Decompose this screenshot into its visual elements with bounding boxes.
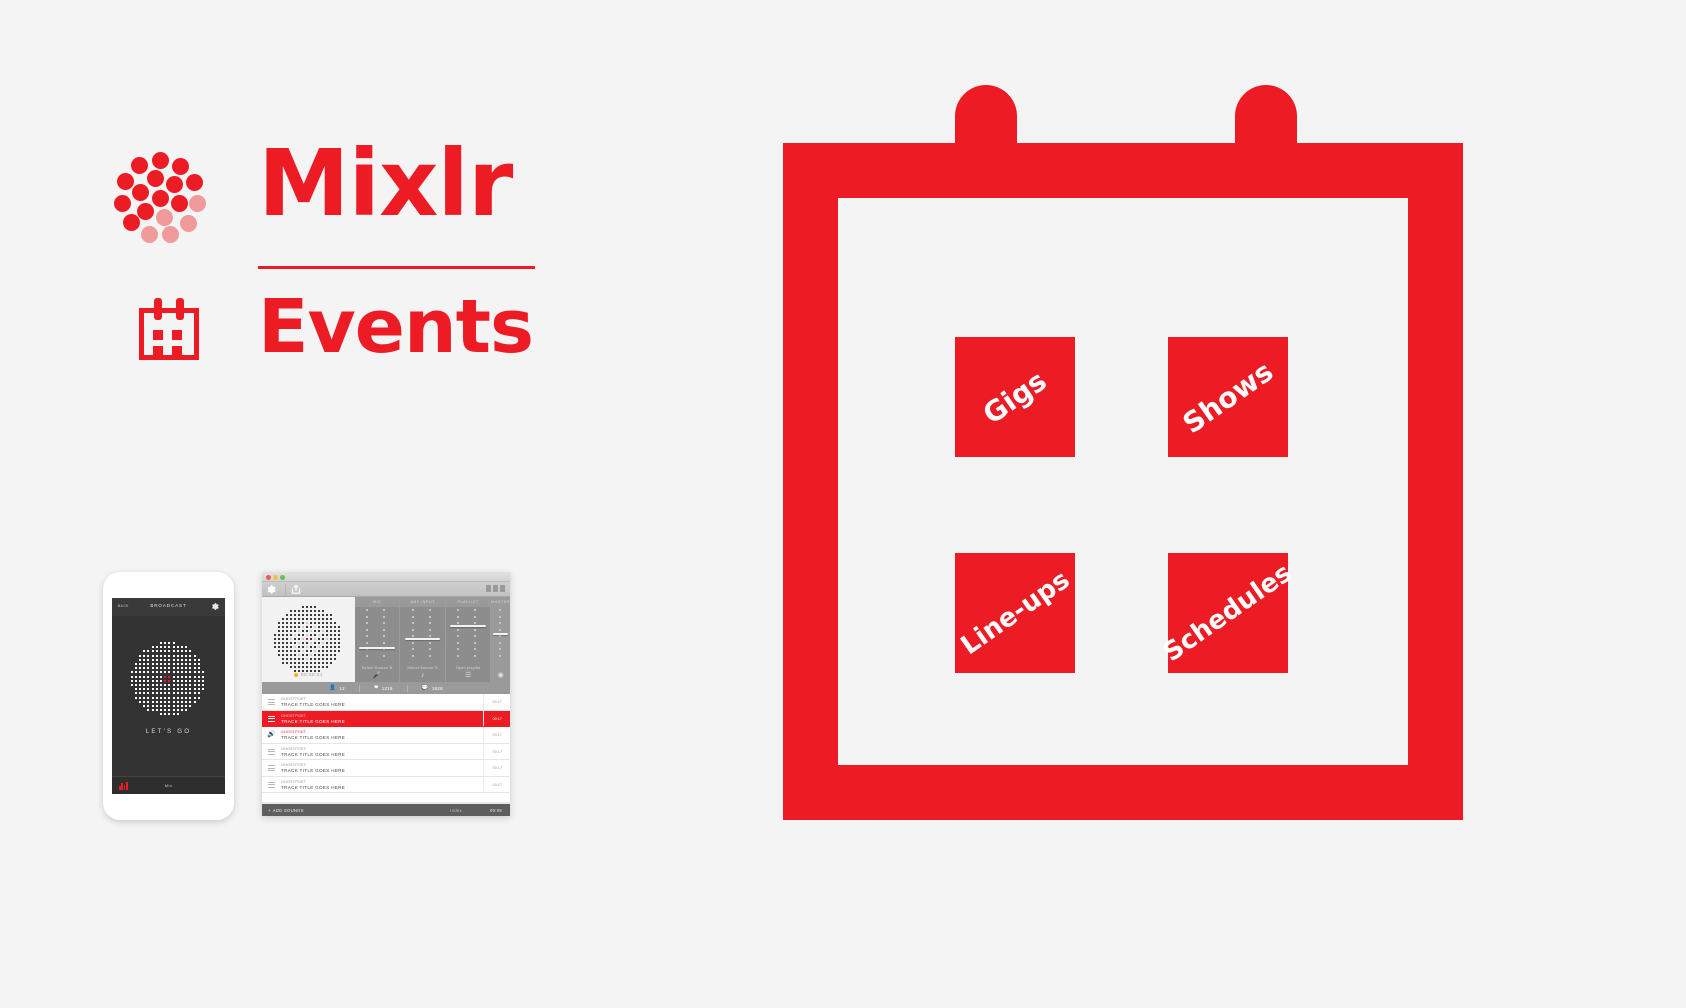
share-icon[interactable]	[285, 584, 303, 595]
stat-hearts-value: 1216	[382, 686, 393, 691]
level-meter-icon	[484, 585, 506, 594]
track-duration: 00:17	[492, 766, 502, 770]
phone-mockup: BACK BROADCAST LET'S GO Mix	[103, 572, 234, 820]
drag-handle-icon[interactable]	[268, 749, 275, 756]
calendar-tile-label: Line-ups	[955, 565, 1075, 661]
track-artist: GHOSTPOET	[281, 697, 306, 701]
fader-track	[381, 609, 388, 661]
channel-source-select[interactable]: Select Source ⇅	[400, 666, 444, 670]
add-sounds-label: ADD SOUNDS	[273, 808, 304, 813]
minimize-icon[interactable]	[273, 575, 278, 580]
track-artist: GHOSTPOET	[281, 780, 306, 784]
window-toolbar	[262, 582, 510, 597]
stat-listeners-value: 12	[339, 686, 344, 691]
tracklist-row[interactable]: GHOSTPOETTRACK TITLE GOES HERE00:17	[262, 760, 510, 777]
calendar-icon-cell	[153, 346, 163, 356]
track-title: TRACK TITLE GOES HERE	[281, 785, 345, 790]
add-sounds-button[interactable]: +ADD SOUNDS	[268, 808, 304, 813]
mixlr-disc-visualizer-icon[interactable]	[131, 642, 207, 718]
stat-hearts: ❤ 1216	[374, 685, 393, 691]
fader-track	[364, 609, 371, 661]
tracklist-row[interactable]: 🔊GHOSTPOETTRACK TITLE GOES HERE00:17	[262, 727, 510, 744]
footer-middle-label: Index	[450, 808, 462, 813]
footer-total-duration: 00:08	[490, 808, 502, 813]
calendar-tile-shows: Shows	[1168, 337, 1288, 457]
phone-cta-label[interactable]: LET'S GO	[112, 728, 225, 735]
calendar-tile-label: Gigs	[977, 364, 1053, 431]
stats-divider	[407, 685, 408, 692]
track-row-divider	[483, 694, 484, 710]
channel-faders[interactable]	[446, 607, 490, 662]
phone-screen: BACK BROADCAST LET'S GO Mix	[112, 598, 225, 794]
track-row-divider	[483, 777, 484, 793]
mixer-panel: 00:00:01 MIC Select Source ⇅ 🎤 ANY INPUT	[262, 597, 510, 682]
calendar-tile-schedules: Schedules	[1168, 553, 1288, 673]
stat-comments: 💬 1628	[422, 685, 443, 691]
recording-indicator-icon	[294, 673, 298, 677]
broadcast-stats-bar: 👤 12 ❤ 1216 💬 1628	[262, 682, 510, 694]
speaker-icon[interactable]: 🔊	[267, 731, 276, 739]
calendar-icon	[139, 298, 199, 360]
channel-faders[interactable]	[400, 607, 444, 662]
broadcast-disc-pane: 00:00:01	[262, 597, 355, 682]
channel-source-select[interactable]: Select Source ⇅	[355, 666, 399, 670]
track-artist: GHOSTPOET	[281, 730, 306, 734]
track-duration: 00:17	[492, 700, 502, 704]
mixlr-dot-logo-icon	[108, 146, 228, 266]
page-title: Events	[258, 290, 533, 364]
channel-faders[interactable]	[355, 607, 399, 662]
channel-strip-playlist[interactable]: PLAYLIST Open playlist ☰	[446, 597, 491, 682]
track-title: TRACK TITLE GOES HERE	[281, 768, 345, 773]
track-duration: 00:17	[492, 733, 502, 737]
calendar-icon-large: Gigs Shows Line-ups Schedules	[783, 85, 1463, 820]
listener-icon: 👤	[329, 685, 336, 691]
fader-track	[426, 609, 433, 661]
calendar-icon-cell	[153, 330, 163, 340]
track-row-divider	[483, 711, 484, 727]
channel-title: ANY INPUT	[400, 597, 444, 607]
input-jack-icon[interactable]: ♪	[400, 671, 444, 680]
window-titlebar	[262, 572, 510, 582]
fader-handle[interactable]	[493, 633, 508, 635]
calendar-tile-line-ups: Line-ups	[955, 553, 1075, 673]
fader-handle[interactable]	[405, 638, 441, 640]
fader-track	[409, 609, 416, 661]
channel-strip-master[interactable]: MASTER ◉	[491, 597, 510, 682]
phone-bottombar: Mix	[112, 776, 225, 794]
channel-open-playlist[interactable]: Open playlist	[446, 666, 490, 670]
channel-strip-mic[interactable]: MIC Select Source ⇅ 🎤	[355, 597, 400, 682]
playlist-footer: +ADD SOUNDS Index 00:08	[262, 804, 510, 816]
track-title: TRACK TITLE GOES HERE	[281, 719, 345, 724]
channel-faders[interactable]	[491, 607, 510, 662]
gear-icon[interactable]	[265, 584, 283, 595]
broadcast-timer-value: 00:00:01	[301, 672, 323, 677]
phone-topbar: BACK BROADCAST	[112, 598, 225, 616]
phone-bottombar-label: Mix	[112, 783, 225, 788]
channel-strips: MIC Select Source ⇅ 🎤 ANY INPUT	[355, 597, 510, 682]
heart-icon: ❤	[374, 685, 379, 691]
channel-title: PLAYLIST	[446, 597, 490, 607]
track-row-divider	[483, 727, 484, 743]
drag-handle-icon[interactable]	[268, 716, 275, 723]
broadcast-timer: 00:00:01	[262, 672, 355, 677]
track-row-divider	[483, 744, 484, 760]
track-title: TRACK TITLE GOES HERE	[281, 735, 345, 740]
channel-strip-any-input[interactable]: ANY INPUT Select Source ⇅ ♪	[400, 597, 445, 682]
drag-handle-icon[interactable]	[268, 699, 275, 706]
calendar-icon-cell	[172, 346, 182, 356]
calendar-large-frame	[783, 143, 1463, 820]
stats-divider	[359, 685, 360, 692]
calendar-tile-label: Shows	[1177, 354, 1279, 439]
fader-handle[interactable]	[359, 647, 395, 649]
track-duration: 00:17	[492, 783, 502, 787]
fader-track	[455, 609, 462, 661]
track-duration: 00:17	[492, 750, 502, 754]
stat-comments-value: 1628	[432, 686, 443, 691]
mixlr-disc-visualizer-icon[interactable]	[274, 606, 344, 676]
brand-divider	[258, 266, 535, 269]
calendar-icon-cell	[172, 330, 182, 340]
tracklist-row[interactable]: GHOSTPOETTRACK TITLE GOES HERE00:17	[262, 744, 510, 761]
drag-handle-icon[interactable]	[268, 782, 275, 789]
playlist-icon[interactable]: ☰	[446, 671, 490, 680]
comment-icon: 💬	[422, 685, 429, 691]
track-artist: GHOSTPOET	[281, 763, 306, 767]
calendar-tile-gigs: Gigs	[955, 337, 1075, 457]
drag-handle-icon[interactable]	[268, 765, 275, 772]
channel-title: MIC	[355, 597, 399, 607]
track-row-divider	[483, 760, 484, 776]
calendar-tile-label: Schedules	[1158, 558, 1298, 668]
brand-wordmark: Mixlr	[258, 138, 512, 230]
close-icon[interactable]	[266, 575, 271, 580]
tracklist[interactable]: GHOSTPOETTRACK TITLE GOES HERE00:17GHOST…	[262, 694, 510, 802]
gear-icon[interactable]	[210, 602, 219, 611]
fader-track	[472, 609, 479, 661]
brand-block: Mixlr Events	[108, 138, 578, 388]
calendar-icon-body	[139, 308, 199, 360]
plus-icon: +	[268, 808, 271, 813]
fader-track	[497, 609, 504, 661]
poster-canvas: Mixlr Events BACK BROADCAST	[0, 0, 1686, 1008]
track-duration: 00:17	[492, 717, 502, 721]
tracklist-row[interactable]: GHOSTPOETTRACK TITLE GOES HERE00:17	[262, 694, 510, 711]
track-title: TRACK TITLE GOES HERE	[281, 702, 345, 707]
track-artist: GHOSTPOET	[281, 747, 306, 751]
track-artist: GHOSTPOET	[281, 714, 306, 718]
microphone-icon[interactable]: 🎤	[355, 671, 399, 680]
tracklist-row[interactable]: GHOSTPOETTRACK TITLE GOES HERE00:17	[262, 777, 510, 794]
tracklist-row[interactable]: GHOSTPOETTRACK TITLE GOES HERE00:17	[262, 711, 510, 728]
track-title: TRACK TITLE GOES HERE	[281, 752, 345, 757]
zoom-icon[interactable]	[280, 575, 285, 580]
desktop-app-mockup: 00:00:01 MIC Select Source ⇅ 🎤 ANY INPUT	[262, 572, 510, 816]
stat-listeners: 👤 12	[329, 685, 345, 691]
channel-title: MASTER	[491, 597, 510, 607]
fader-handle[interactable]	[450, 625, 486, 627]
phone-screen-title: BROADCAST	[112, 603, 225, 608]
master-icon[interactable]: ◉	[491, 671, 510, 680]
